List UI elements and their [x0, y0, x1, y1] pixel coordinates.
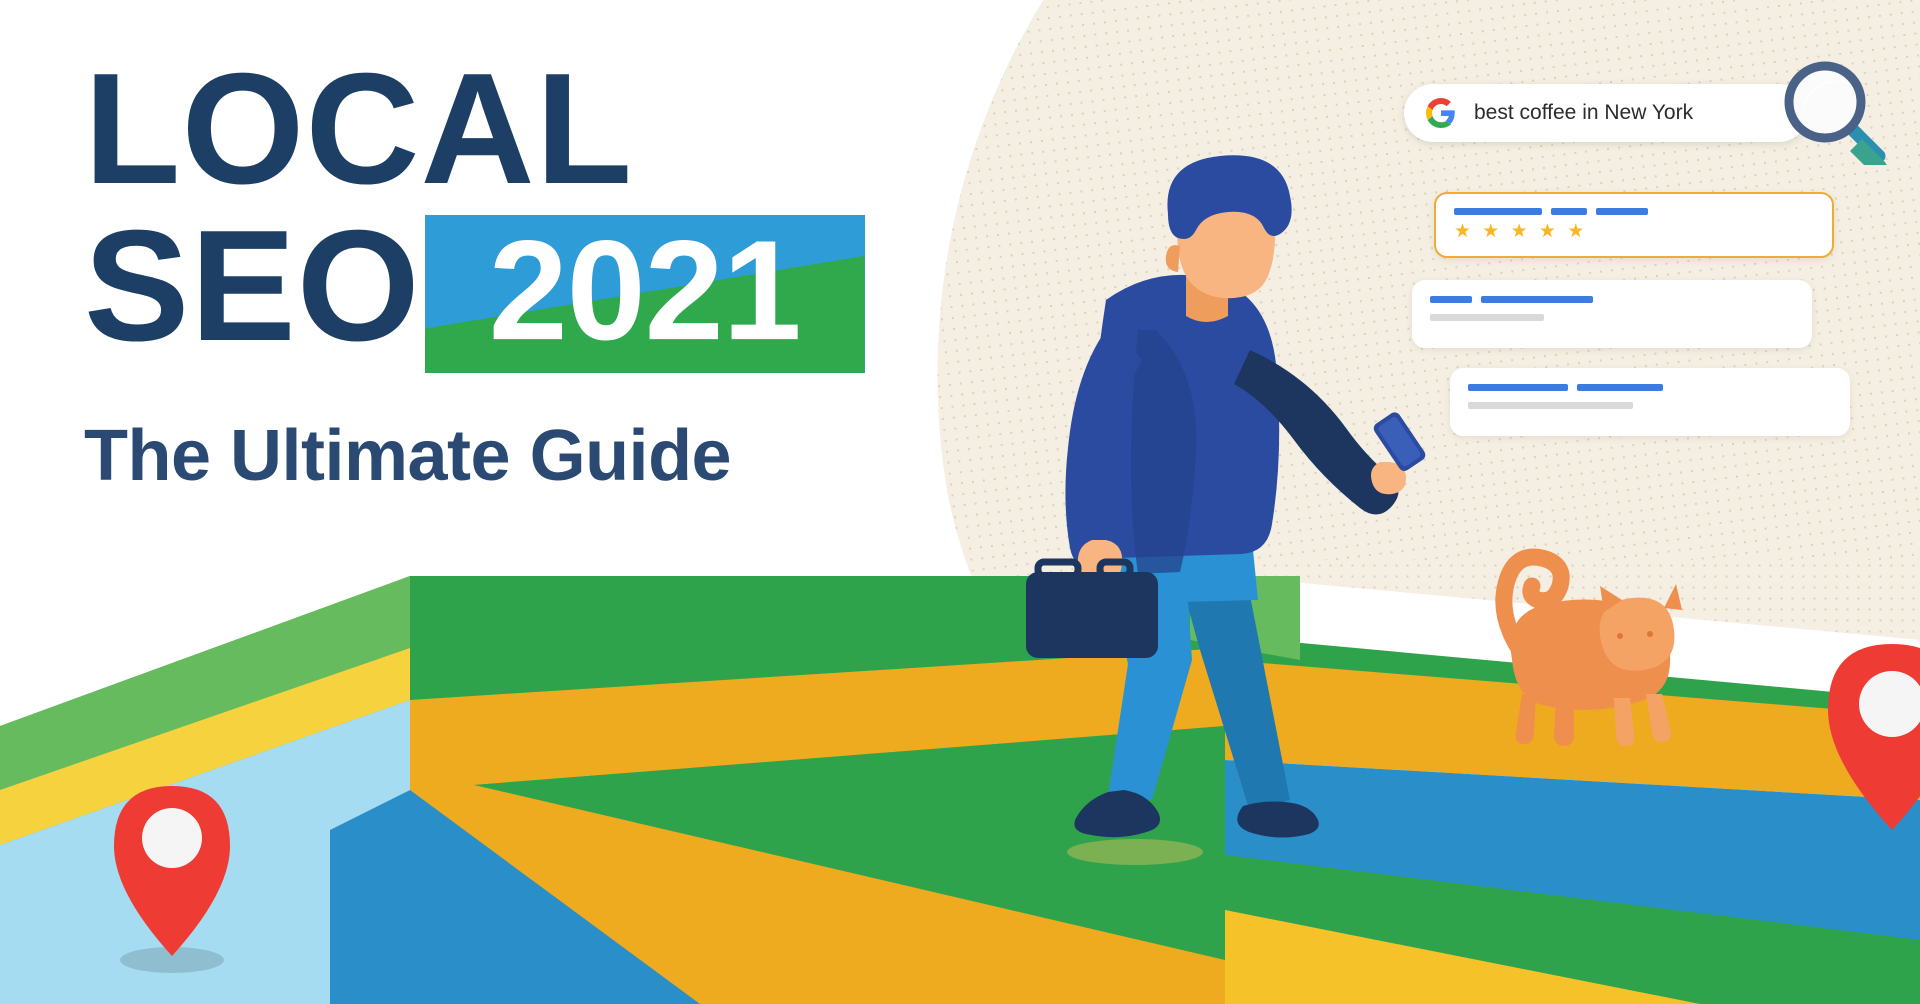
page-subtitle: The Ultimate Guide: [84, 415, 865, 497]
year-badge-label: 2021: [425, 220, 865, 362]
google-g-icon: [1426, 98, 1456, 128]
google-search-bar[interactable]: best coffee in New York: [1404, 84, 1808, 142]
poster-canvas: LOCAL SEO 2021 The Ultimate Guide best c…: [0, 0, 1920, 1004]
year-badge: 2021: [425, 215, 865, 373]
search-query-text: best coffee in New York: [1474, 101, 1693, 125]
magnifying-glass-icon[interactable]: [1778, 55, 1888, 165]
map-pin-left: [114, 786, 230, 973]
title-row-seo-year: SEO 2021: [84, 209, 865, 373]
title-line-seo: SEO: [84, 209, 421, 373]
title-line-local: LOCAL: [84, 52, 865, 207]
map-pin-right: [1828, 644, 1920, 830]
poster-headline: LOCAL SEO 2021 The Ultimate Guide: [84, 52, 865, 497]
